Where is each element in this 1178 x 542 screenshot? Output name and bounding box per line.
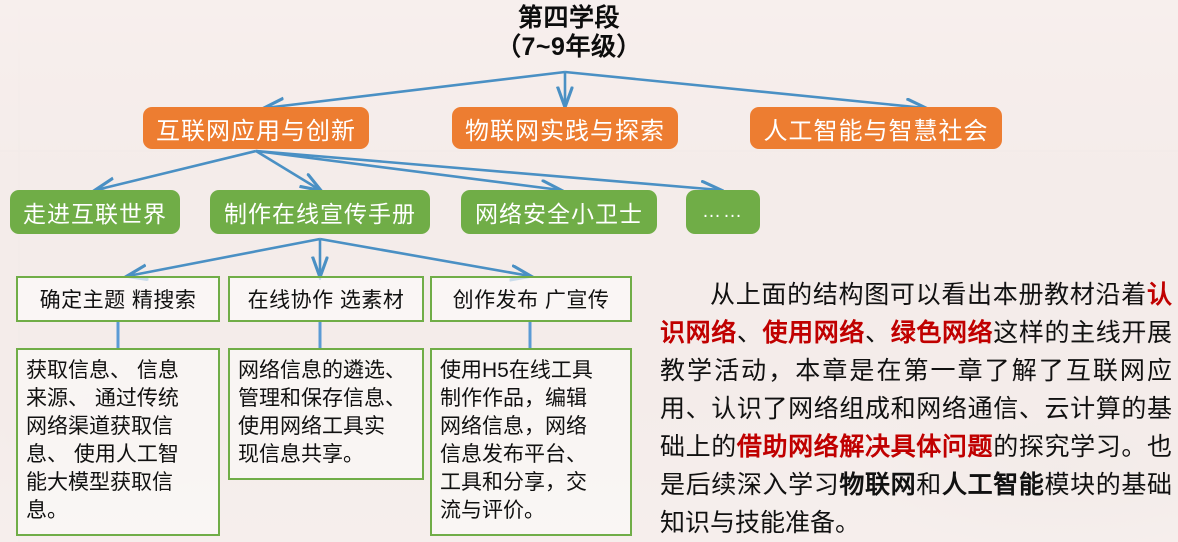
- detail-line: 网络信息，网络: [440, 413, 593, 441]
- detail-box-information-acquisition: 获取信息、 信息 来源、 通过传统 网络渠道获取信 息、 使用人工智 能大模型获…: [16, 348, 220, 536]
- module-label: 互联网应用与创新: [156, 111, 356, 146]
- paragraph-text: 和: [916, 471, 942, 499]
- unit-box-enter-connected-world[interactable]: 走进互联世界: [10, 190, 180, 234]
- paragraph-text: 、: [865, 319, 891, 347]
- module-label: 人工智能与智慧社会: [764, 111, 989, 146]
- task-box-choose-topic[interactable]: 确定主题 精搜索: [16, 276, 220, 322]
- task-label: 在线协作 选素材: [248, 284, 405, 314]
- detail-line: 网络信息的遴选、: [238, 357, 406, 385]
- detail-line: 信息发布平台、: [440, 441, 593, 469]
- module-box-iot-practice[interactable]: 物联网实践与探索: [452, 107, 678, 149]
- page-title: 第四学段 （7~9年级）: [409, 4, 729, 62]
- detail-line: 使用H5在线工具: [440, 357, 593, 385]
- detail-line: 来源、 通过传统: [26, 385, 179, 413]
- detail-line: 使用网络工具实: [238, 413, 406, 441]
- detail-text: 使用H5在线工具 制作作品，编辑 网络信息，网络 信息发布平台、 工具和分享，交…: [440, 357, 593, 525]
- paragraph-text: 、: [737, 319, 763, 347]
- task-label: 创作发布 广宣传: [453, 284, 610, 314]
- unit-box-make-online-brochure[interactable]: 制作在线宣传手册: [210, 190, 430, 234]
- detail-line: 获取信息、 信息: [26, 357, 179, 385]
- detail-box-h5-creation: 使用H5在线工具 制作作品，编辑 网络信息，网络 信息发布平台、 工具和分享，交…: [430, 348, 632, 536]
- task-box-create-publish[interactable]: 创作发布 广宣传: [430, 276, 632, 322]
- highlight-red-text: 使用网络: [763, 319, 866, 347]
- detail-line: 流与评价。: [440, 497, 593, 525]
- highlight-bold-text: 人工智能: [942, 471, 1045, 499]
- unit-label: 网络安全小卫士: [475, 195, 643, 229]
- detail-line: 管理和保存信息、: [238, 385, 406, 413]
- module-box-internet-application[interactable]: 互联网应用与创新: [143, 107, 369, 149]
- detail-line: 息。: [26, 497, 179, 525]
- detail-line: 工具和分享，交: [440, 469, 593, 497]
- title-line-1: 第四学段: [409, 4, 729, 33]
- unit-box-more-ellipsis[interactable]: ……: [686, 190, 760, 234]
- detail-line: 能大模型获取信: [26, 469, 179, 497]
- unit-label: 制作在线宣传手册: [224, 195, 416, 229]
- paragraph-text: 从上面的结构图可以看出本册教材沿着: [710, 281, 1147, 309]
- title-line-2: （7~9年级）: [409, 33, 729, 62]
- unit-label: 走进互联世界: [23, 195, 167, 229]
- module-box-ai-smart-society[interactable]: 人工智能与智慧社会: [750, 107, 1002, 149]
- task-box-online-collaboration[interactable]: 在线协作 选素材: [228, 276, 424, 322]
- highlight-red-text: 绿色网络: [891, 319, 994, 347]
- detail-line: 现信息共享。: [238, 441, 406, 469]
- detail-text: 获取信息、 信息 来源、 通过传统 网络渠道获取信 息、 使用人工智 能大模型获…: [26, 357, 179, 525]
- detail-text: 网络信息的遴选、 管理和保存信息、 使用网络工具实 现信息共享。: [238, 357, 406, 469]
- unit-label: ……: [702, 201, 744, 223]
- module-label: 物联网实践与探索: [465, 111, 665, 146]
- detail-line: 网络渠道获取信: [26, 413, 179, 441]
- detail-box-information-management: 网络信息的遴选、 管理和保存信息、 使用网络工具实 现信息共享。: [228, 348, 424, 480]
- highlight-red-text: 借助网络解决具体问题: [737, 433, 993, 461]
- summary-paragraph: 从上面的结构图可以看出本册教材沿着认识网络、使用网络、绿色网络这样的主线开展教学…: [660, 276, 1172, 542]
- slide-canvas: 第四学段 （7~9年级） 互联网应用与创新 物联网实践与探索 人工智能与智慧社会…: [0, 0, 1178, 542]
- detail-line: 制作作品，编辑: [440, 385, 593, 413]
- detail-line: 息、 使用人工智: [26, 441, 179, 469]
- highlight-bold-text: 物联网: [839, 471, 916, 499]
- unit-box-network-security-guard[interactable]: 网络安全小卫士: [461, 190, 657, 234]
- task-label: 确定主题 精搜索: [40, 284, 197, 314]
